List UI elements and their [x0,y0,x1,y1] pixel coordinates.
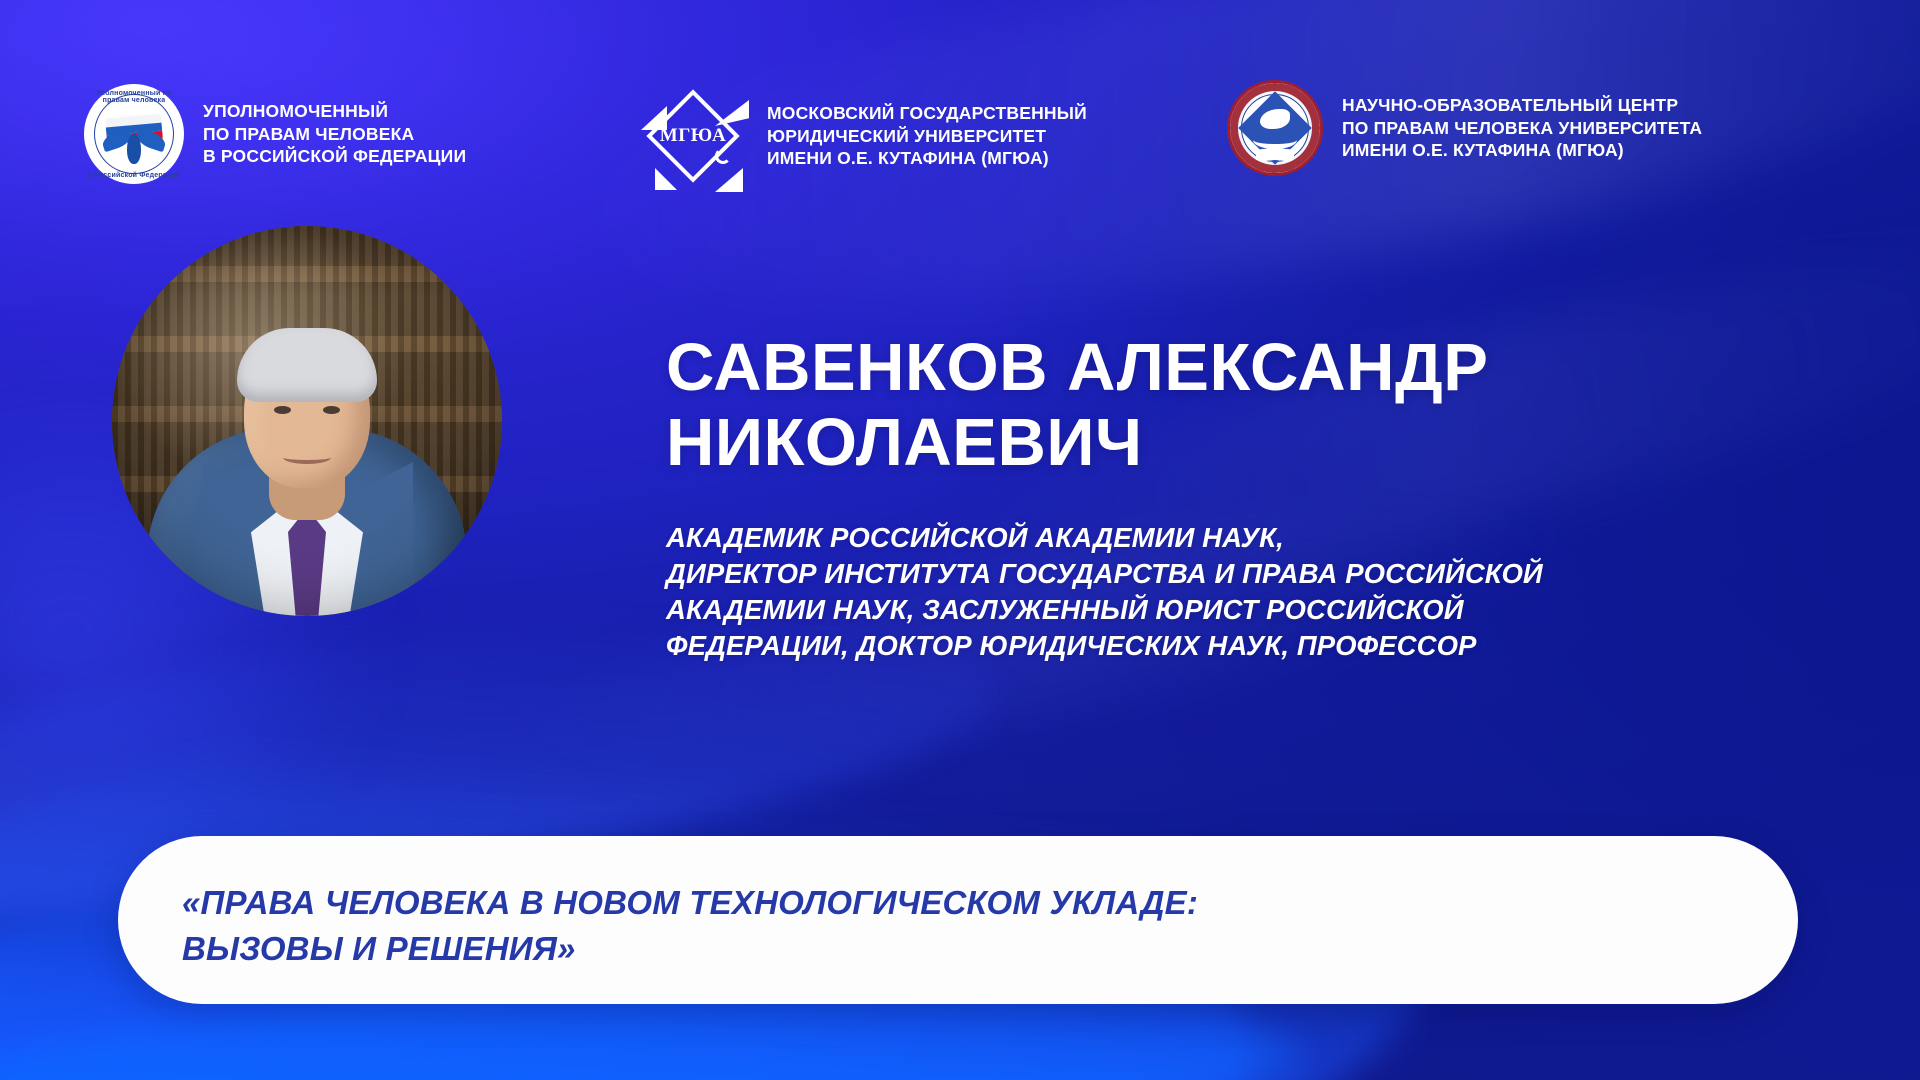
logo-lockup-noc: Научно-образовательный центр по правам ч… [1227,80,1702,176]
speaker-credentials-line: директор Института государства и права Р… [666,556,1826,592]
speaker-credentials: Академик Российской академии наук, дирек… [666,520,1826,664]
logo-text-line: по правам человека университета [1342,117,1702,140]
logo-text-line: Уполномоченный [203,100,466,123]
header-logo-bar: Уполномоченный по правам человека в Росс… [0,0,1920,210]
seal-top-text: Уполномоченный по правам человека [84,90,184,104]
speaker-credentials-line: Академик Российской академии наук, [666,520,1826,556]
speaker-info-block: Савенков Александр Николаевич Академик Р… [666,330,1826,664]
logo-text-line: имени О.Е. Кутафина (МГЮА) [1342,139,1702,162]
speaker-credentials-line: Федерации, доктор юридических наук, проф… [666,628,1826,664]
seal-bottom-text: в Российской Федерации [84,172,184,179]
logo-lockup-mgua-text: Московский государственный юридический у… [767,102,1087,170]
mgua-monogram: МГЮА [637,125,749,147]
mgua-diamond-logo-icon: МГЮА [637,80,749,192]
logo-lockup-mgua: МГЮА Московский государственный юридичес… [637,80,1087,192]
speaker-credentials-line: академии наук, заслуженный юрист Российс… [666,592,1826,628]
logo-text-line: имени О.Е. Кутафина (МГЮА) [767,147,1087,170]
logo-text-line: Научно-образовательный центр [1342,94,1702,117]
logo-text-line: Московский государственный [767,102,1087,125]
logo-lockup-noc-text: Научно-образовательный центр по правам ч… [1342,94,1702,162]
noc-human-rights-emblem-icon [1227,80,1323,176]
logo-text-line: юридический университет [767,125,1087,148]
logo-text-line: в Российской Федерации [203,145,466,168]
speaker-portrait-photo [112,226,502,616]
speaker-name: Савенков Александр Николаевич [666,330,1826,480]
topic-card-title: «Права человека в новом технологическом … [182,880,1742,972]
topic-card-title-line: «Права человека в новом технологическом … [182,880,1742,926]
logo-text-line: по правам человека [203,123,466,146]
logo-lockup-ombudsman: Уполномоченный по правам человека в Росс… [84,84,466,184]
topic-card-title-line: вызовы и решения» [182,926,1742,972]
speaker-name-line: Николаевич [666,405,1826,480]
topic-card: «Права человека в новом технологическом … [118,836,1798,1004]
speaker-name-line: Савенков Александр [666,330,1826,405]
logo-lockup-ombudsman-text: Уполномоченный по правам человека в Росс… [203,100,466,168]
ombudsman-seal-icon: Уполномоченный по правам человека в Росс… [84,84,184,184]
portrait-vignette [112,226,502,616]
